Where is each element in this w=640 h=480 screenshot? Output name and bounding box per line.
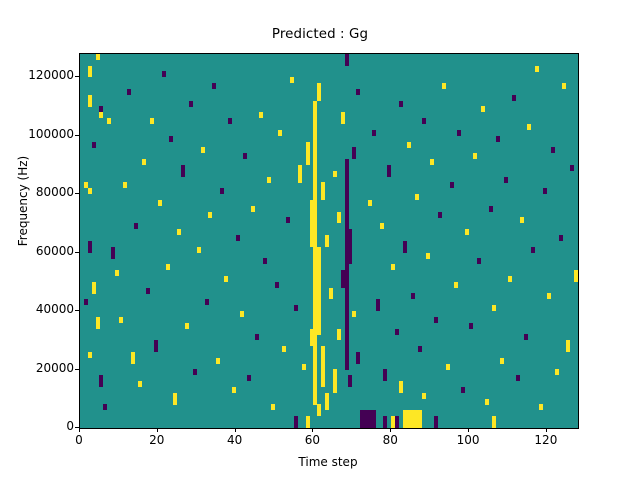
heatmap-cell bbox=[559, 235, 563, 241]
x-tick-mark bbox=[235, 428, 236, 432]
heatmap-cell bbox=[457, 130, 461, 136]
x-tick-label: 80 bbox=[360, 433, 420, 447]
y-tick-label: 40000 bbox=[0, 302, 74, 316]
heatmap-cell bbox=[317, 329, 321, 335]
heatmap-cell bbox=[481, 106, 485, 112]
heatmap-cell bbox=[418, 346, 422, 352]
heatmap-cell bbox=[146, 288, 150, 294]
heatmap-cell bbox=[99, 112, 103, 118]
heatmap-cell bbox=[88, 101, 92, 107]
heatmap-cell bbox=[92, 142, 96, 148]
heatmap-cell bbox=[185, 323, 189, 329]
heatmap-cell bbox=[181, 171, 185, 177]
x-tick-label: 20 bbox=[127, 433, 187, 447]
y-tick-mark bbox=[75, 310, 79, 311]
heatmap-cell bbox=[259, 112, 263, 118]
heatmap-cell bbox=[446, 364, 450, 370]
heatmap-cell bbox=[96, 323, 100, 329]
heatmap-cell bbox=[489, 206, 493, 212]
heatmap-cell bbox=[177, 229, 181, 235]
heatmap-cell bbox=[99, 381, 103, 387]
heatmap-cell bbox=[520, 217, 524, 223]
heatmap-cell bbox=[208, 212, 212, 218]
heatmap-cell bbox=[442, 83, 446, 89]
heatmap-cell bbox=[275, 282, 279, 288]
heatmap-cell bbox=[341, 118, 345, 124]
heatmap-cell bbox=[271, 404, 275, 410]
heatmap-cell bbox=[399, 101, 403, 107]
heatmap-cell bbox=[205, 299, 209, 305]
y-tick-mark bbox=[75, 135, 79, 136]
heatmap-cell bbox=[317, 95, 321, 101]
x-tick-label: 40 bbox=[205, 433, 265, 447]
heatmap-cell bbox=[267, 177, 271, 183]
y-tick-mark bbox=[75, 369, 79, 370]
x-axis-label: Time step bbox=[79, 455, 577, 469]
y-tick-mark bbox=[75, 252, 79, 253]
heatmap-cell bbox=[286, 217, 290, 223]
y-axis-label: Frequency (Hz) bbox=[16, 121, 30, 281]
heatmap-cell bbox=[337, 217, 341, 223]
heatmap-cell bbox=[426, 253, 430, 259]
heatmap-cell bbox=[348, 381, 352, 387]
heatmap-cell bbox=[356, 89, 360, 95]
heatmap-cell bbox=[88, 71, 92, 77]
heatmap-cell bbox=[134, 223, 138, 229]
heatmap-cell bbox=[131, 358, 135, 364]
heatmap-cell bbox=[387, 171, 391, 177]
heatmap-cell bbox=[119, 317, 123, 323]
heatmap-cell bbox=[383, 422, 387, 428]
heatmap-cell bbox=[352, 311, 356, 317]
heatmap-cell bbox=[92, 288, 96, 294]
heatmap-cell bbox=[403, 247, 407, 253]
heatmap-cell bbox=[96, 54, 100, 60]
heatmap-cell bbox=[395, 422, 399, 428]
heatmap-cell bbox=[551, 147, 555, 153]
y-tick-label: 20000 bbox=[0, 361, 74, 375]
heatmap-cell bbox=[516, 375, 520, 381]
y-tick-mark bbox=[75, 76, 79, 77]
heatmap-cell bbox=[302, 364, 306, 370]
heatmap-cell bbox=[282, 346, 286, 352]
heatmap-cell bbox=[240, 311, 244, 317]
heatmap-cell bbox=[352, 153, 356, 159]
heatmap-cell bbox=[395, 329, 399, 335]
heatmap-cell bbox=[547, 293, 551, 299]
heatmap-cell bbox=[201, 147, 205, 153]
heatmap-cell bbox=[562, 83, 566, 89]
heatmap-cell bbox=[492, 422, 496, 428]
heatmap-cell bbox=[539, 404, 543, 410]
heatmap-cell bbox=[372, 422, 376, 428]
heatmap-cell bbox=[247, 375, 251, 381]
heatmap-cell bbox=[454, 282, 458, 288]
heatmap-cell bbox=[321, 381, 325, 387]
heatmap-cell bbox=[329, 293, 333, 299]
y-tick-label: 60000 bbox=[0, 244, 74, 258]
heatmap-cell bbox=[224, 276, 228, 282]
heatmap-cell bbox=[333, 387, 337, 393]
heatmap-cell bbox=[422, 393, 426, 399]
heatmap-cell bbox=[220, 188, 224, 194]
heatmap-cell bbox=[107, 118, 111, 124]
heatmap-cell bbox=[103, 404, 107, 410]
heatmap-cell bbox=[415, 194, 419, 200]
spectrogram-heatmap[interactable] bbox=[80, 54, 578, 428]
heatmap-cell bbox=[356, 358, 360, 364]
y-tick-mark bbox=[75, 427, 79, 428]
heatmap-cell bbox=[158, 200, 162, 206]
heatmap-cell bbox=[524, 334, 528, 340]
heatmap-cell bbox=[555, 369, 559, 375]
heatmap-cell bbox=[508, 276, 512, 282]
heatmap-cell bbox=[251, 206, 255, 212]
heatmap-cell bbox=[173, 399, 177, 405]
page-title: Predicted : Gg bbox=[0, 27, 640, 42]
heatmap-cell bbox=[88, 188, 92, 194]
heatmap-cell bbox=[84, 299, 88, 305]
heatmap-cell bbox=[127, 89, 131, 95]
heatmap-cell bbox=[407, 142, 411, 148]
heatmap-cell bbox=[298, 177, 302, 183]
heatmap-cell bbox=[290, 77, 294, 83]
heatmap-cell bbox=[411, 293, 415, 299]
heatmap-cell bbox=[566, 346, 570, 352]
x-tick-mark bbox=[468, 428, 469, 432]
heatmap-cell bbox=[255, 334, 259, 340]
heatmap-cell bbox=[543, 188, 547, 194]
heatmap-cell bbox=[383, 375, 387, 381]
heatmap-cell bbox=[473, 153, 477, 159]
heatmap-cell bbox=[142, 159, 146, 165]
heatmap-cell bbox=[500, 358, 504, 364]
heatmap-cell bbox=[317, 410, 321, 416]
heatmap-cell bbox=[492, 305, 496, 311]
heatmap-cell bbox=[162, 71, 166, 77]
heatmap-cell bbox=[294, 422, 298, 428]
heatmap-cell bbox=[496, 136, 500, 142]
heatmap-cell bbox=[512, 95, 516, 101]
heatmap-cell bbox=[306, 422, 310, 428]
heatmap-cell bbox=[418, 422, 422, 428]
x-tick-label: 100 bbox=[438, 433, 498, 447]
heatmap-cell bbox=[228, 118, 232, 124]
heatmap-cell bbox=[88, 66, 92, 72]
heatmap-cell bbox=[477, 258, 481, 264]
heatmap-cell bbox=[376, 305, 380, 311]
y-tick-label: 100000 bbox=[0, 127, 74, 141]
heatmap-cell bbox=[333, 171, 337, 177]
heatmap-cell bbox=[232, 387, 236, 393]
heatmap-cell bbox=[189, 101, 193, 107]
heatmap-cell bbox=[574, 276, 578, 282]
x-tick-label: 0 bbox=[49, 433, 109, 447]
heatmap-cell bbox=[527, 124, 531, 130]
heatmap-cell bbox=[391, 264, 395, 270]
heatmap-cell bbox=[278, 130, 282, 136]
heatmap-cell bbox=[166, 264, 170, 270]
heatmap-cell bbox=[337, 334, 341, 340]
x-tick-label: 120 bbox=[516, 433, 576, 447]
heatmap-cell bbox=[212, 83, 216, 89]
heatmap-cell bbox=[111, 253, 115, 259]
heatmap-cell bbox=[438, 212, 442, 218]
heatmap-cell bbox=[422, 118, 426, 124]
x-tick-label: 60 bbox=[282, 433, 342, 447]
heatmap-cell bbox=[372, 130, 376, 136]
heatmap-cell bbox=[348, 258, 352, 264]
heatmap-cell bbox=[306, 159, 310, 165]
heatmap-cell bbox=[535, 66, 539, 72]
heatmap-cell bbox=[197, 247, 201, 253]
heatmap-cell bbox=[434, 422, 438, 428]
y-tick-label: 0 bbox=[0, 419, 74, 433]
heatmap-cell bbox=[325, 241, 329, 247]
x-tick-mark bbox=[79, 428, 80, 432]
y-tick-label: 80000 bbox=[0, 185, 74, 199]
heatmap-cell bbox=[216, 358, 220, 364]
x-tick-mark bbox=[546, 428, 547, 432]
matplotlib-figure: Predicted : Gg 020406080100120 020000400… bbox=[0, 0, 640, 480]
heatmap-cell bbox=[138, 381, 142, 387]
heatmap-cell bbox=[399, 387, 403, 393]
heatmap-cell bbox=[345, 364, 349, 370]
heatmap-cell bbox=[469, 323, 473, 329]
heatmap-cell bbox=[570, 165, 574, 171]
heatmap-cell bbox=[88, 352, 92, 358]
heatmap-cell bbox=[325, 404, 329, 410]
heatmap-cell bbox=[380, 223, 384, 229]
heatmap-axes[interactable] bbox=[79, 53, 579, 429]
heatmap-cell bbox=[321, 194, 325, 200]
heatmap-cell bbox=[115, 270, 119, 276]
heatmap-cell bbox=[169, 136, 173, 142]
x-tick-mark bbox=[312, 428, 313, 432]
heatmap-cell bbox=[123, 182, 127, 188]
heatmap-cell bbox=[504, 177, 508, 183]
heatmap-cell bbox=[294, 305, 298, 311]
heatmap-cell bbox=[531, 247, 535, 253]
y-tick-label: 120000 bbox=[0, 68, 74, 82]
heatmap-cell bbox=[485, 399, 489, 405]
x-tick-mark bbox=[157, 428, 158, 432]
heatmap-cell bbox=[465, 229, 469, 235]
heatmap-cell bbox=[150, 118, 154, 124]
heatmap-cell bbox=[243, 153, 247, 159]
x-tick-mark bbox=[390, 428, 391, 432]
heatmap-cell bbox=[236, 235, 240, 241]
heatmap-cell bbox=[368, 200, 372, 206]
heatmap-cell bbox=[461, 387, 465, 393]
heatmap-cell bbox=[88, 247, 92, 253]
heatmap-cell bbox=[193, 369, 197, 375]
heatmap-cell bbox=[345, 60, 349, 66]
heatmap-cell bbox=[154, 346, 158, 352]
heatmap-cell bbox=[430, 159, 434, 165]
heatmap-cell bbox=[450, 182, 454, 188]
heatmap-cell bbox=[263, 258, 267, 264]
y-tick-mark bbox=[75, 193, 79, 194]
heatmap-cell bbox=[434, 317, 438, 323]
